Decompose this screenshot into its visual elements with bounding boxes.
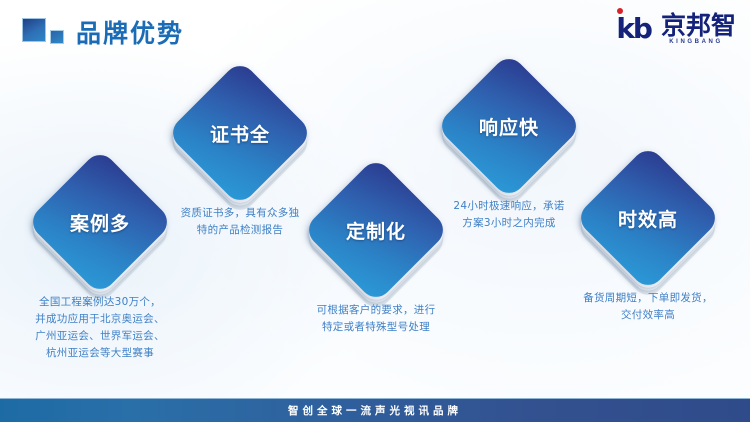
diamond-shape-3: 定制化 <box>324 178 428 282</box>
desc-line: 24小时极速响应，承诺 <box>419 198 599 215</box>
advantage-desc-5: 备货周期短，下单即发货， 交付效率高 <box>558 290 738 324</box>
advantage-desc-2: 资质证书多，具有众多独 特的产品检测报告 <box>150 205 330 239</box>
footer-slogan: 智创全球一流声光视讯品牌 <box>288 403 462 418</box>
desc-line: 方案3小时之内完成 <box>419 215 599 232</box>
advantage-label-4: 响应快 <box>457 74 561 178</box>
advantage-desc-1: 全国工程案例达30万个， 并成功应用于北京奥运会、 广州亚运会、世界军运会、 杭… <box>10 294 190 362</box>
diamond-shape-2: 证书全 <box>188 81 292 185</box>
desc-line: 备货周期短，下单即发货， <box>558 290 738 307</box>
desc-line: 全国工程案例达30万个， <box>10 294 190 311</box>
desc-line: 杭州亚运会等大型赛事 <box>10 345 190 362</box>
desc-line: 特的产品检测报告 <box>150 222 330 239</box>
desc-line: 资质证书多，具有众多独 <box>150 205 330 222</box>
advantage-label-1: 案例多 <box>48 170 152 274</box>
desc-line: 并成功应用于北京奥运会、 <box>10 311 190 328</box>
advantages-stage: 案例多 全国工程案例达30万个， 并成功应用于北京奥运会、 广州亚运会、世界军运… <box>0 0 750 392</box>
diamond-shape-5: 时效高 <box>596 166 700 270</box>
page-footer: 智创全球一流声光视讯品牌 <box>0 398 750 422</box>
advantage-desc-4: 24小时极速响应，承诺 方案3小时之内完成 <box>419 198 599 232</box>
diamond-shape-4: 响应快 <box>457 74 561 178</box>
advantage-desc-3: 可根据客户的要求，进行 特定或者特殊型号处理 <box>286 302 466 336</box>
advantage-label-5: 时效高 <box>596 166 700 270</box>
advantage-label-2: 证书全 <box>188 81 292 185</box>
diamond-shape-1: 案例多 <box>48 170 152 274</box>
desc-line: 交付效率高 <box>558 307 738 324</box>
desc-line: 可根据客户的要求，进行 <box>286 302 466 319</box>
desc-line: 特定或者特殊型号处理 <box>286 319 466 336</box>
advantage-label-3: 定制化 <box>324 178 428 282</box>
desc-line: 广州亚运会、世界军运会、 <box>10 328 190 345</box>
